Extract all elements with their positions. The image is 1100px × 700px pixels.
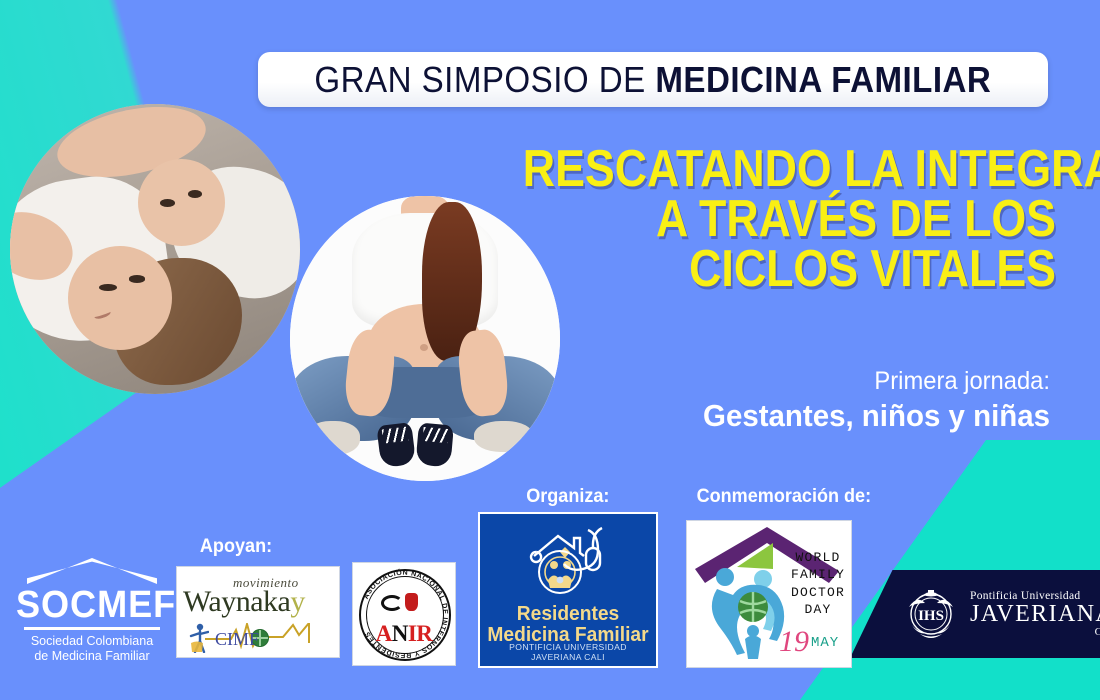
wfdd-text: WORLD FAMILY DOCTOR DAY xyxy=(791,549,845,619)
poster-canvas: GRAN SIMPOSIO DE MEDICINA FAMILIAR RESCA… xyxy=(0,0,1100,700)
wfdd-line-4: DAY xyxy=(791,601,845,618)
subtitle-line-1: Primera jornada: xyxy=(480,366,1050,397)
photo-mother-smile xyxy=(93,308,111,320)
family-house-stethoscope-icon xyxy=(514,522,626,602)
photo-mother-eye-right xyxy=(129,275,146,282)
page-title: GRAN SIMPOSIO DE MEDICINA FAMILIAR xyxy=(315,59,992,101)
cimf-label: CIMF xyxy=(215,629,259,650)
residentes-subtitle: PONTIFICIA UNIVERSIDAD JAVERIANA CALI xyxy=(480,642,656,663)
photo-baby-eye-left xyxy=(160,199,175,207)
residentes-title-line-1: Residentes xyxy=(484,604,653,625)
title-emphasis: MEDICINA FAMILIAR xyxy=(655,59,991,100)
photo-mother-eye-left xyxy=(99,284,117,291)
title-prefix: GRAN SIMPOSIO DE xyxy=(315,59,656,100)
headline-block: RESCATANDO LA INTEGRALIDAD A TRAVÉS DE L… xyxy=(436,145,1056,295)
photo-shoe-laces xyxy=(422,427,448,443)
residentes-sub-line-2: JAVERIANA CALI xyxy=(480,652,656,662)
label-organiza: Organiza: xyxy=(526,486,609,508)
anir-n: N xyxy=(392,621,408,646)
residentes-medicina-familiar-logo: Residentes Medicina Familiar PONTIFICIA … xyxy=(478,512,658,668)
event-title-banner: GRAN SIMPOSIO DE MEDICINA FAMILIAR xyxy=(258,52,1048,107)
anir-circular-text: ASOCIACIÓN NACIONAL DE INTERNOS Y RESIDE… xyxy=(353,563,455,665)
waynakay-name-main: Waynaka xyxy=(183,585,290,618)
photo-baby-eye-right xyxy=(188,190,202,198)
photo-sock-left xyxy=(306,421,360,455)
ihs-crest-svg: IHS xyxy=(902,585,960,643)
wfdd-line-1: WORLD xyxy=(791,549,845,566)
world-family-doctor-day-logo: WORLD FAMILY DOCTOR DAY 19 MAY xyxy=(686,520,852,668)
photo-mother-head xyxy=(68,246,172,350)
anir-acronym: ANIR xyxy=(353,621,455,647)
subtitle-block: Primera jornada: Gestantes, niños y niña… xyxy=(450,366,1050,436)
javeriana-line-2: JAVERIANA xyxy=(970,602,1100,627)
residentes-sub-line-1: PONTIFICIA UNIVERSIDAD xyxy=(480,642,656,652)
headline-line-2: A TRAVÉS DE LOS xyxy=(523,195,1056,245)
subtitle-line-2: Gestantes, niños y niñas xyxy=(480,397,1050,436)
wfdd-line-2: FAMILY xyxy=(791,566,845,583)
javeriana-logo: IHS Pontificia Universidad JAVERIANA Cal… xyxy=(866,576,1096,652)
wfdd-month: MAY xyxy=(811,635,839,651)
wfdd-line-3: DOCTOR xyxy=(791,584,845,601)
label-conmemoracion: Conmemoración de: xyxy=(697,486,872,508)
anir-a: A xyxy=(376,621,392,646)
headline-line-3: CICLOS VITALES xyxy=(523,245,1056,295)
stethoscope-bell-icon xyxy=(405,593,418,611)
socmef-name-line-1: Sociedad Colombiana xyxy=(12,634,172,649)
divider xyxy=(24,627,160,630)
mother-and-baby-photo xyxy=(10,104,300,394)
javeriana-line-3: Cali xyxy=(970,627,1100,639)
ihs-monogram: IHS xyxy=(918,608,944,624)
socmef-name-line-2: de Medicina Familiar xyxy=(12,649,172,664)
person-figure-icon xyxy=(187,623,209,653)
photo-navel xyxy=(420,344,428,351)
wfdd-day-number: 19 xyxy=(779,625,809,659)
stethoscope-icon xyxy=(381,595,403,611)
socmef-acronym: SOCMEF xyxy=(16,586,168,624)
waynakay-logo: movimiento Waynakay CIMF xyxy=(176,566,340,658)
label-apoyan: Apoyan: xyxy=(200,536,272,558)
headline-line-1: RESCATANDO LA INTEGRALIDAD xyxy=(523,145,1056,195)
javeriana-wordmark: Pontificia Universidad JAVERIANA Cali xyxy=(970,590,1100,639)
javeriana-line-1: Pontificia Universidad xyxy=(970,590,1100,602)
anir-logo: ASOCIACIÓN NACIONAL DE INTERNOS Y RESIDE… xyxy=(352,562,456,666)
photo-shoe-laces xyxy=(382,427,409,444)
waynakay-name: Waynakay xyxy=(183,585,305,619)
socmef-logo: SOCMEF Sociedad Colombiana de Medicina F… xyxy=(12,558,172,670)
house-roof-icon xyxy=(27,558,157,584)
residentes-title: Residentes Medicina Familiar xyxy=(484,604,653,646)
anir-ir: IR xyxy=(408,621,433,646)
photo-baby-head xyxy=(138,159,225,246)
waynakay-name-tail: y xyxy=(290,585,305,618)
ihs-crest-icon: IHS xyxy=(902,585,960,643)
